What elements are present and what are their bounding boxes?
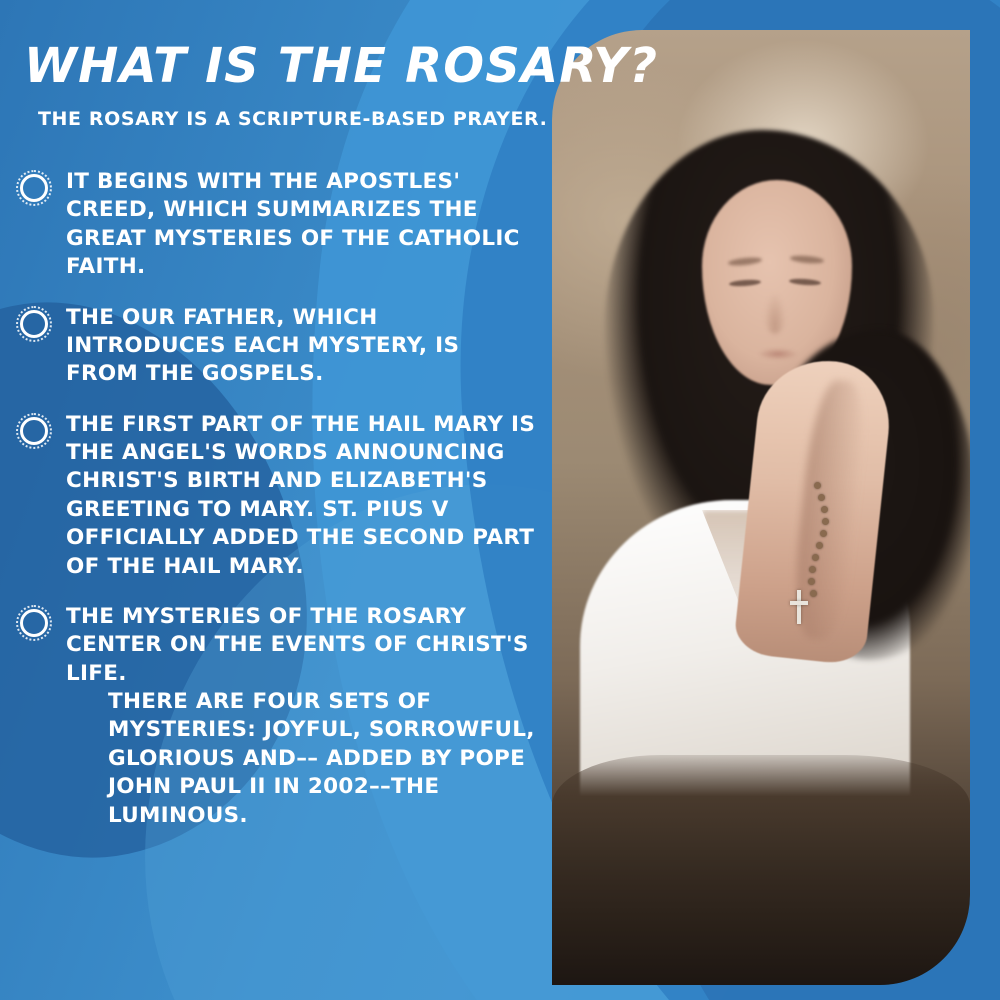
page-title: WHAT IS THE ROSARY? (24, 38, 658, 94)
bullet-list: IT BEGINS WITH THE APOSTLES' CREED, WHIC… (16, 168, 556, 830)
foreground-table (552, 755, 970, 985)
page-subtitle: THE ROSARY IS A SCRIPTURE-BASED PRAYER. (38, 108, 547, 130)
rosary-bead-icon (16, 170, 52, 206)
rosary-beads (808, 482, 868, 632)
list-item-text: THE FIRST PART OF THE HAIL MARY IS THE A… (66, 411, 536, 581)
photo-panel (552, 30, 970, 985)
rosary-bead-icon (16, 605, 52, 641)
nose-shape (764, 292, 786, 334)
crucifix-icon (790, 590, 808, 624)
list-item-text: THE OUR FATHER, WHICH INTRODUCES EACH MY… (66, 304, 536, 389)
list-item: IT BEGINS WITH THE APOSTLES' CREED, WHIC… (16, 168, 556, 282)
list-item: THE FIRST PART OF THE HAIL MARY IS THE A… (16, 411, 556, 581)
list-item: THE OUR FATHER, WHICH INTRODUCES EACH MY… (16, 304, 556, 389)
rosary-bead-icon (16, 306, 52, 342)
poster: WHAT IS THE ROSARY? THE ROSARY IS A SCRI… (0, 0, 1000, 1000)
list-item: THE MYSTERIES OF THE ROSARY CENTER ON TH… (16, 603, 556, 688)
list-item-text: THE MYSTERIES OF THE ROSARY CENTER ON TH… (66, 603, 536, 688)
rosary-bead-icon (16, 413, 52, 449)
list-item-text: IT BEGINS WITH THE APOSTLES' CREED, WHIC… (66, 168, 536, 282)
praying-woman-photo (552, 30, 970, 985)
mouth-shape (758, 348, 798, 360)
sub-note-text: THERE ARE FOUR SETS OF MYSTERIES: JOYFUL… (108, 688, 548, 830)
